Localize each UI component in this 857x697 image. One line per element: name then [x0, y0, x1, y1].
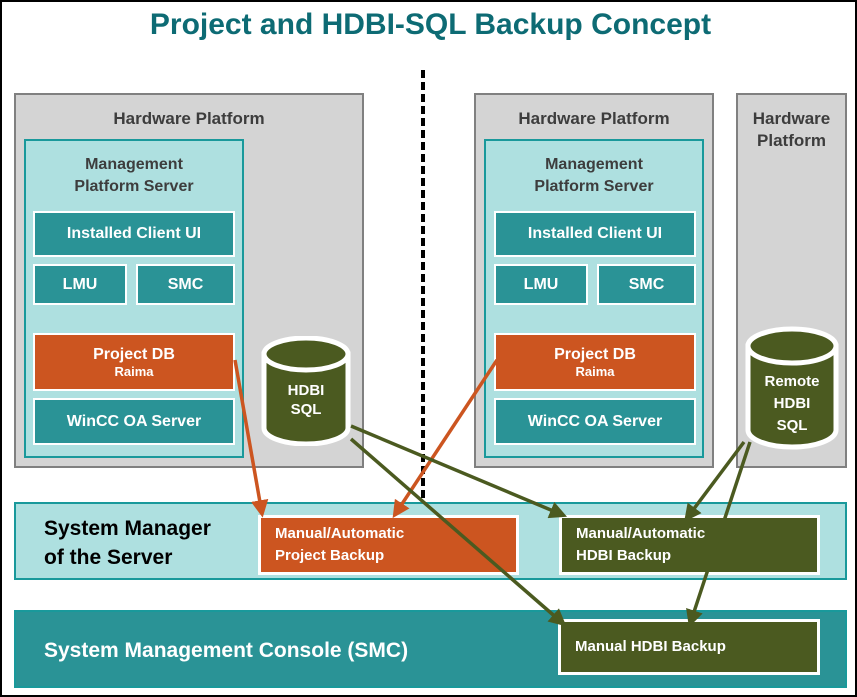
hardware-platform-right-title: Hardware Platform	[476, 108, 712, 130]
project-db-right-engine: Raima	[575, 364, 614, 380]
mps-left-title-line2: Platform Server	[26, 176, 242, 198]
mps-left-title-line1: Management	[26, 154, 242, 176]
hdbi-sql-database-left[interactable]: HDBI SQL	[260, 336, 352, 446]
project-db-left-label: Project DB	[93, 345, 175, 364]
smc-label: System Management Console (SMC)	[44, 636, 408, 665]
manual-hdbi-backup[interactable]: Manual HDBI Backup	[558, 619, 820, 675]
installed-client-ui-right[interactable]: Installed Client UI	[494, 211, 696, 257]
smc-left[interactable]: SMC	[136, 264, 235, 305]
lmu-right[interactable]: LMU	[494, 264, 588, 305]
hdbi-sql-left-line1: HDBI	[260, 381, 352, 400]
hardware-platform-remote-title-line1: Hardware	[738, 108, 845, 130]
remote-hdbi-sql-line3: SQL	[744, 416, 840, 435]
project-db-left[interactable]: Project DB Raima	[33, 333, 235, 391]
project-db-right-label: Project DB	[554, 345, 636, 364]
remote-hdbi-sql-line2: HDBI	[744, 394, 840, 413]
project-db-right[interactable]: Project DB Raima	[494, 333, 696, 391]
project-backup-line1: Manual/Automatic	[275, 523, 516, 545]
vertical-dashed-divider	[421, 70, 425, 498]
system-manager-label-line1: System Manager	[44, 514, 259, 543]
wincc-oa-server-left[interactable]: WinCC OA Server	[33, 398, 235, 445]
project-db-left-engine: Raima	[114, 364, 153, 380]
hdbi-sql-left-line2: SQL	[260, 400, 352, 419]
page-title: Project and HDBI-SQL Backup Concept	[2, 8, 857, 42]
hdbi-backup-line1: Manual/Automatic	[576, 523, 817, 545]
hardware-platform-remote-title-line2: Platform	[738, 130, 845, 152]
mps-right-title-line1: Management	[486, 154, 702, 176]
hardware-platform-left-title: Hardware Platform	[16, 108, 362, 130]
lmu-left[interactable]: LMU	[33, 264, 127, 305]
manual-automatic-hdbi-backup[interactable]: Manual/Automatic HDBI Backup	[559, 515, 820, 575]
smc-right[interactable]: SMC	[597, 264, 696, 305]
installed-client-ui-left[interactable]: Installed Client UI	[33, 211, 235, 257]
hdbi-backup-line2: HDBI Backup	[576, 545, 817, 567]
remote-hdbi-sql-line1: Remote	[744, 372, 840, 391]
manual-automatic-project-backup[interactable]: Manual/Automatic Project Backup	[258, 515, 519, 575]
mps-right-title-line2: Platform Server	[486, 176, 702, 198]
manual-hdbi-backup-label: Manual HDBI Backup	[575, 636, 817, 658]
system-manager-label-line2: of the Server	[44, 543, 259, 572]
project-backup-line2: Project Backup	[275, 545, 516, 567]
remote-hdbi-sql-database[interactable]: Remote HDBI SQL	[744, 326, 840, 452]
wincc-oa-server-right[interactable]: WinCC OA Server	[494, 398, 696, 445]
diagram-canvas: Project and HDBI-SQL Backup Concept Hard…	[0, 0, 857, 697]
system-manager-label: System Manager of the Server	[44, 514, 259, 572]
